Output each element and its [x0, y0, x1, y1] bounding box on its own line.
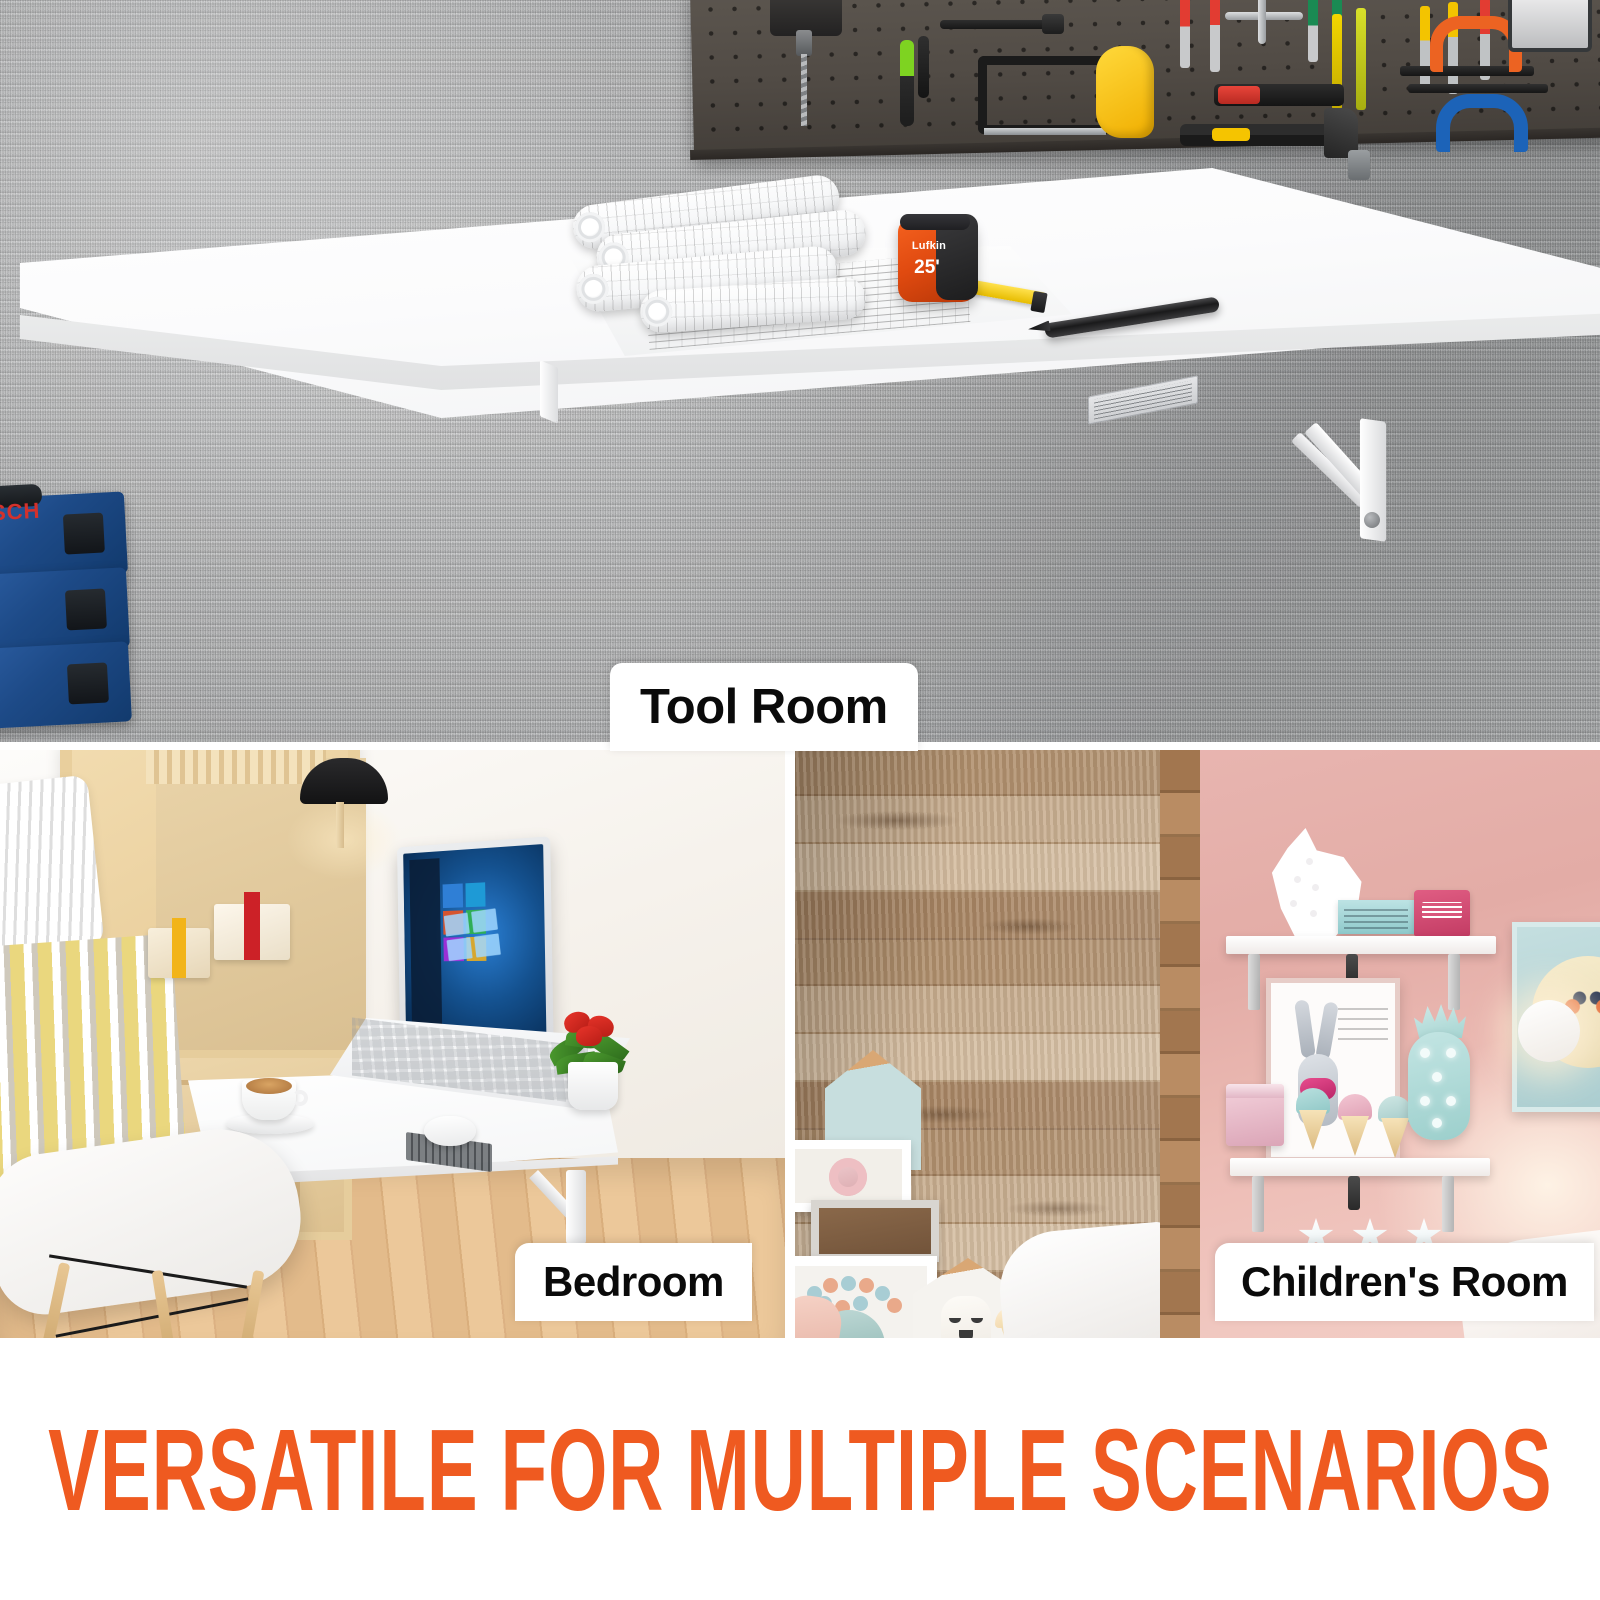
wrench-icon	[940, 20, 1056, 29]
gift-box-small	[148, 928, 210, 978]
desk-lamp-arm	[336, 802, 344, 848]
table-bracket-left	[540, 360, 558, 423]
drill-bit-icon	[801, 54, 807, 126]
shelf-bracket	[1442, 1176, 1454, 1232]
clamp-bar-icon	[1408, 84, 1548, 93]
artwork-text	[1338, 1006, 1388, 1040]
screwdriver-icon	[1356, 8, 1366, 110]
coffee-surface	[246, 1078, 292, 1094]
table-bracket	[566, 1170, 586, 1244]
round-wall-lamp	[1518, 1000, 1580, 1062]
book	[1338, 900, 1414, 934]
laptop-display	[403, 844, 546, 1037]
panel-wood-wall	[795, 750, 1160, 1338]
storage-tin	[1226, 1084, 1284, 1146]
coffee-cup-handle	[292, 1090, 308, 1106]
hammer-head-icon	[1348, 150, 1370, 180]
lamp-glow	[286, 800, 402, 880]
tape-measure-length: 25'	[902, 258, 952, 277]
tool-case-latch-icon	[65, 588, 107, 630]
screwdriver-icon	[1210, 0, 1220, 72]
laptop-screen	[397, 836, 554, 1045]
pillow	[0, 775, 105, 956]
hammer-grip-icon	[1212, 128, 1250, 141]
label-bedroom: Bedroom	[515, 1243, 752, 1321]
panel-tool-room: Lufkin 25' BOSCH	[0, 0, 1600, 742]
tool-case	[0, 641, 132, 730]
banner-headline: VERSATILE FOR MULTIPLE SCENARIOS	[48, 1412, 1552, 1528]
utility-knife-grip-icon	[1218, 86, 1260, 104]
doll-figure	[941, 1296, 991, 1338]
tape-measure-top	[900, 214, 970, 230]
pliers-secondary-icon	[918, 36, 929, 98]
hammer-handle-icon	[1180, 124, 1330, 146]
screwdriver-icon	[1308, 0, 1318, 62]
clamp-blue-icon	[1436, 94, 1528, 152]
hacksaw-grip-icon	[1096, 46, 1154, 138]
tape-measure-brand: Lufkin	[902, 240, 956, 252]
hacksaw-frame-icon	[978, 56, 1110, 134]
shelf-bracket	[1448, 954, 1460, 1010]
plant-pot	[568, 1062, 618, 1110]
toy-radio	[1414, 890, 1470, 936]
wall-shelf-upper	[1226, 936, 1496, 954]
product-marketing-image: Lufkin 25' BOSCH	[0, 0, 1600, 1600]
bottom-banner: VERSATILE FOR MULTIPLE SCENARIOS	[0, 1400, 1600, 1540]
start-menu-panel	[409, 858, 442, 1027]
label-tool-room: Tool Room	[610, 663, 918, 751]
storage-box-gray	[811, 1200, 939, 1262]
tool-case-latch-icon	[67, 662, 109, 704]
computer-mouse	[424, 1116, 476, 1146]
screwdriver-icon	[1420, 6, 1430, 92]
pliers-icon	[900, 40, 914, 126]
hacksaw-blade-icon	[984, 128, 1106, 135]
bracket-bolt-icon	[1364, 512, 1380, 528]
shelf-hook-icon	[1348, 1176, 1360, 1210]
shelf-bracket	[1248, 954, 1260, 1010]
tool-case-latch-icon	[63, 513, 105, 555]
wood-wall-strip	[1160, 750, 1200, 1338]
meter-box-icon	[1508, 0, 1592, 52]
shelf-bracket	[1252, 1176, 1264, 1232]
screwdriver-icon	[1180, 0, 1190, 68]
gift-box-large	[214, 904, 290, 960]
bunk-bed-rail	[146, 750, 326, 784]
windows-logo-icon	[444, 908, 501, 961]
tee-wrench-shaft-icon	[1258, 0, 1266, 44]
bunny-artwork-frame	[1266, 978, 1400, 1162]
pineapple-lamp	[1408, 1032, 1470, 1140]
drill-chuck-icon	[796, 30, 812, 56]
wall-shelf-lower	[1230, 1158, 1490, 1176]
tool-case-brand: BOSCH	[0, 498, 41, 528]
wrench-head-icon	[1042, 14, 1064, 34]
label-childrens-room: Children's Room	[1215, 1243, 1594, 1321]
